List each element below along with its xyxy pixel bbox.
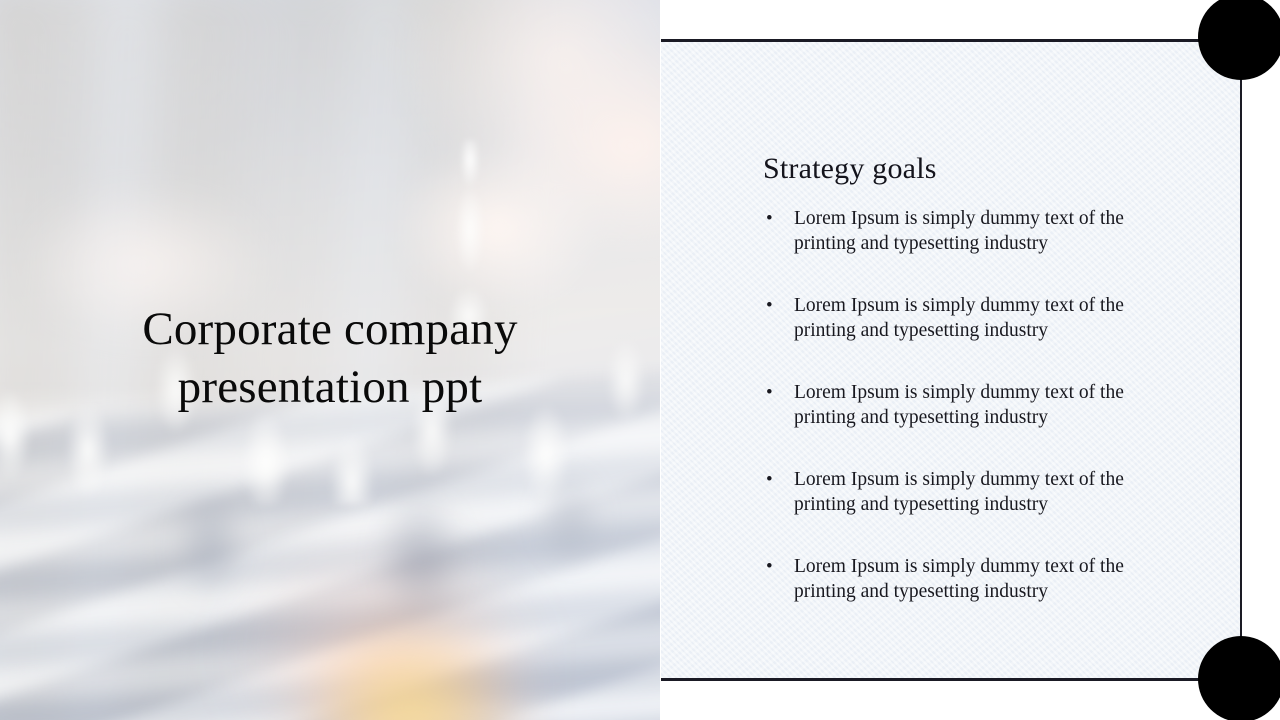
list-item: • Lorem Ipsum is simply dummy text of th… <box>761 206 1161 256</box>
list-item: • Lorem Ipsum is simply dummy text of th… <box>761 467 1161 517</box>
bullet-point-icon: • <box>766 380 773 405</box>
list-item-text: Lorem Ipsum is simply dummy text of the … <box>794 556 1124 602</box>
chess-photo-panel: Corporate company presentation ppt <box>0 0 660 720</box>
strategy-goals-list: • Lorem Ipsum is simply dummy text of th… <box>761 206 1161 604</box>
circle-decoration-bottom-right <box>1198 636 1280 720</box>
circle-decoration-top-right <box>1198 0 1280 80</box>
list-item-text: Lorem Ipsum is simply dummy text of the … <box>794 208 1124 254</box>
bullet-point-icon: • <box>766 467 773 492</box>
list-item: • Lorem Ipsum is simply dummy text of th… <box>761 293 1161 343</box>
bullet-point-icon: • <box>766 206 773 231</box>
bullet-point-icon: • <box>766 293 773 318</box>
slide-title: Corporate company presentation ppt <box>0 300 660 416</box>
content-panel: Strategy goals • Lorem Ipsum is simply d… <box>661 39 1242 681</box>
list-item: • Lorem Ipsum is simply dummy text of th… <box>761 380 1161 430</box>
list-item: • Lorem Ipsum is simply dummy text of th… <box>761 554 1161 604</box>
section-heading: Strategy goals <box>763 152 937 186</box>
list-item-text: Lorem Ipsum is simply dummy text of the … <box>794 295 1124 341</box>
list-item-text: Lorem Ipsum is simply dummy text of the … <box>794 469 1124 515</box>
presentation-slide: Corporate company presentation ppt Strat… <box>0 0 1280 720</box>
list-item-text: Lorem Ipsum is simply dummy text of the … <box>794 382 1124 428</box>
bullet-point-icon: • <box>766 554 773 579</box>
